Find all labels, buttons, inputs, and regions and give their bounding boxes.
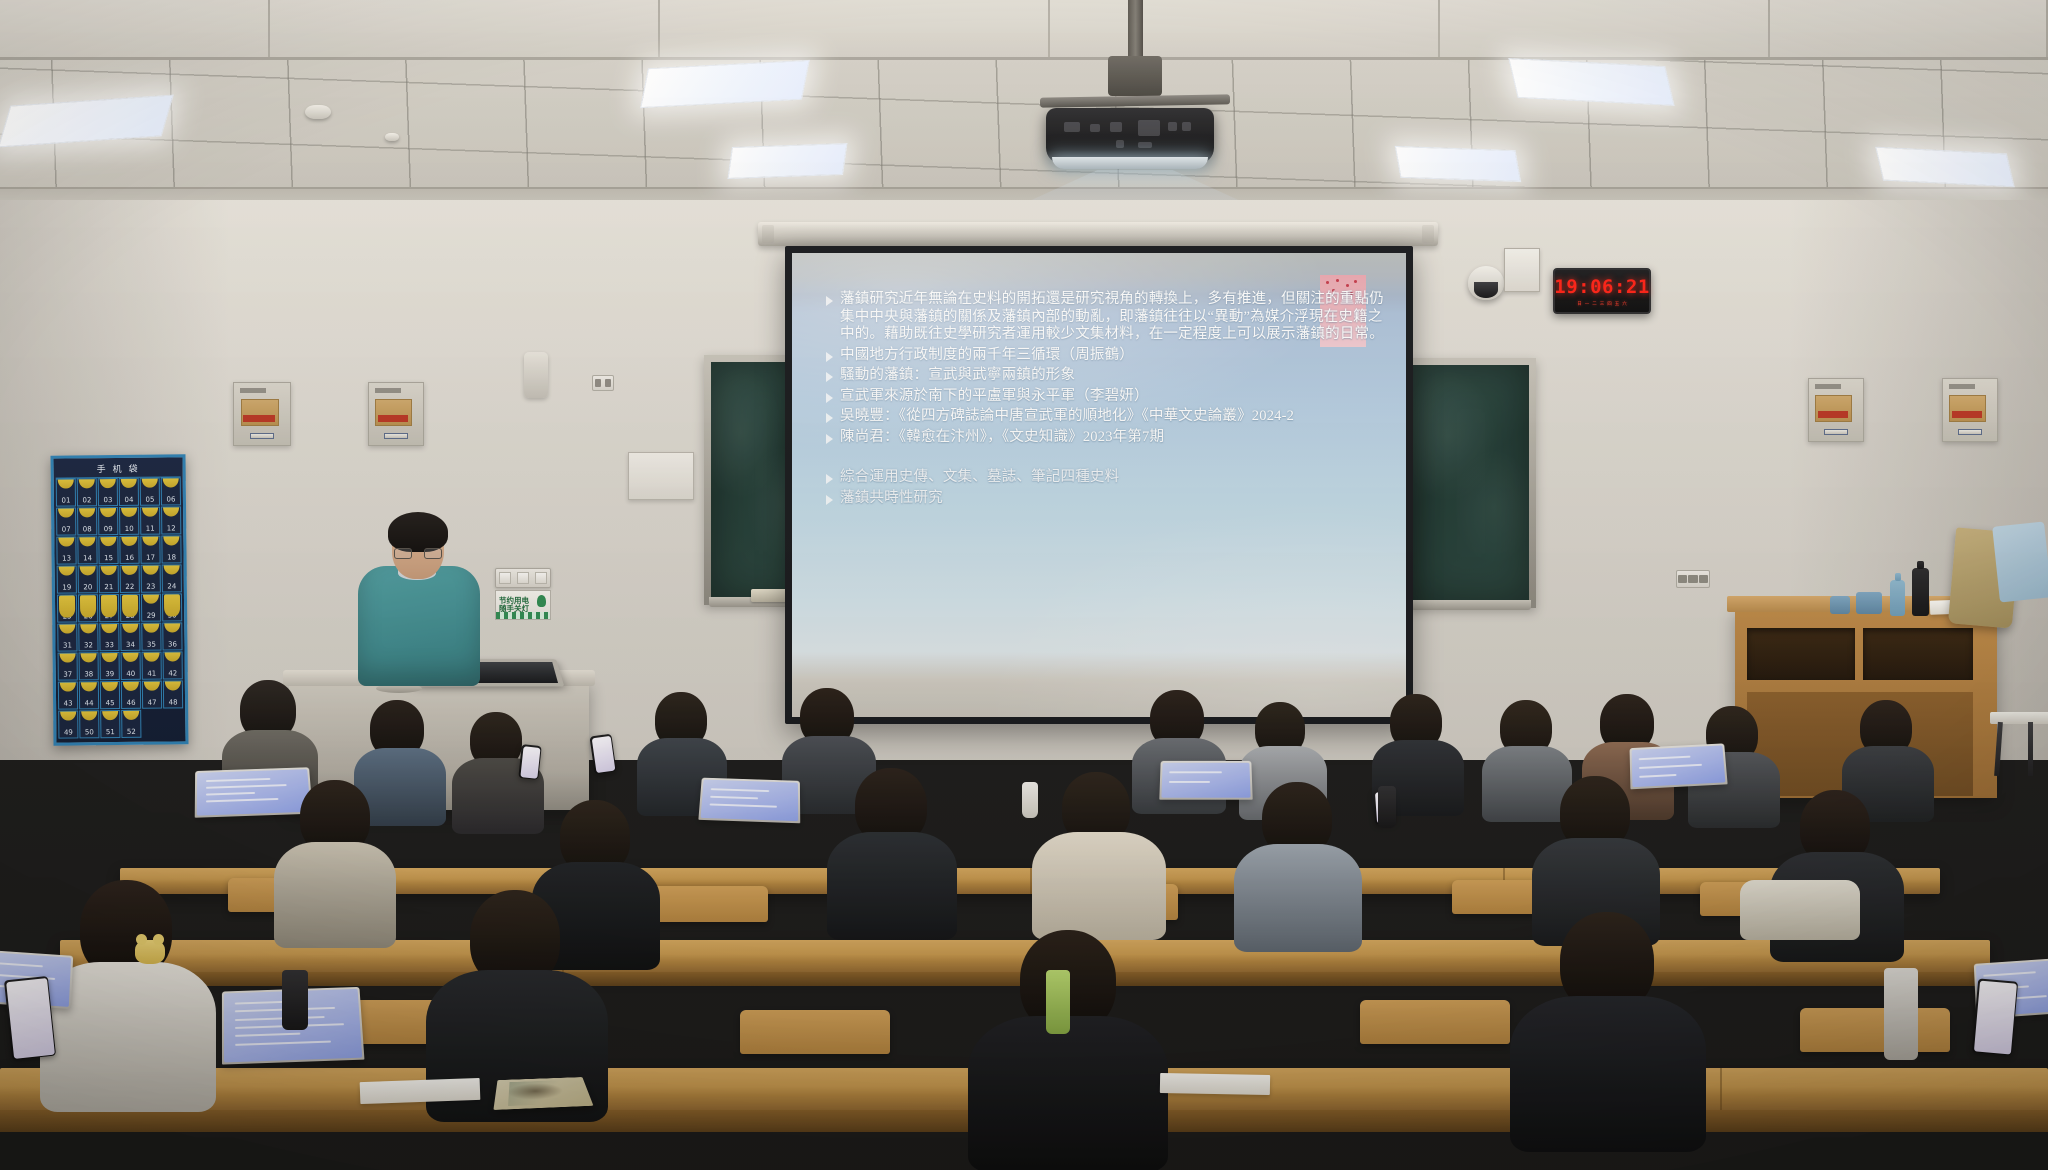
- phone-pocket-label: 17: [146, 554, 155, 562]
- phone-pocket-label: 21: [104, 583, 113, 591]
- bullet-triangle-icon: [826, 393, 833, 403]
- phone-pocket-label: 51: [106, 728, 115, 736]
- slide-bullet-text: 宣武軍來源於南下的平盧軍與永平軍（李碧妍）: [840, 388, 1149, 406]
- drink-bottle: [1046, 970, 1070, 1034]
- laptop: [195, 767, 313, 817]
- phone-pocket-label: 03: [103, 496, 112, 504]
- phone-pocket-28[interactable]: 28: [120, 594, 140, 622]
- clock-weekday: 六: [1622, 301, 1627, 307]
- ceiling-light-panel: [1875, 147, 2015, 188]
- wall-notice-sign: [628, 452, 694, 500]
- phone-pocket-36[interactable]: 36: [162, 622, 182, 650]
- clock-weekday-row: 日 一 二 三 四 五 六: [1577, 301, 1627, 307]
- phone-pocket-label: 46: [127, 699, 136, 707]
- phone-pocket-38[interactable]: 38: [79, 652, 99, 680]
- smoke-detector-icon: [385, 133, 399, 141]
- phone-pocket-label: 37: [63, 670, 72, 678]
- ceiling-upper-band: [0, 0, 2048, 60]
- drink-bottle: [282, 970, 308, 1030]
- phone-pocket-label: 44: [85, 699, 94, 707]
- phone-pocket-label: 12: [167, 524, 176, 532]
- ceiling-light-panel: [1395, 146, 1521, 182]
- phone-pocket-label: 49: [64, 728, 73, 736]
- phone-pocket-05[interactable]: 05: [140, 478, 160, 506]
- phone-pocket-label: 31: [63, 642, 72, 650]
- phone-pocket-label: 13: [62, 555, 71, 563]
- phone-pocket-50[interactable]: 50: [79, 710, 99, 738]
- projection-screen: 藩鎮研究近年無論在史料的開拓還是研究視角的轉換上，多有推進，但關注的重點仍集中中…: [785, 246, 1413, 724]
- slide-bullet: 藩鎮共時性研究: [826, 490, 1388, 508]
- slide-bullet: 陳尚君：《韓愈在汴州》，《文史知識》2023年第7期: [826, 429, 1388, 447]
- phone-pocket-label: 42: [168, 669, 177, 677]
- slide-bullet: 綜合運用史傳、文集、墓誌、筆記四種史料: [826, 469, 1388, 487]
- bullet-triangle-icon: [826, 352, 833, 362]
- teddy-bear-hairclip: [135, 940, 165, 964]
- projected-slide: 藩鎮研究近年無論在史料的開拓還是研究視角的轉換上，多有推進，但關注的重點仍集中中…: [792, 253, 1406, 717]
- water-bottle-blue: [1890, 580, 1905, 616]
- phone-pocket-03[interactable]: 03: [98, 478, 118, 506]
- phone-pocket-23[interactable]: 23: [141, 565, 161, 593]
- phone-pocket-21[interactable]: 21: [99, 565, 119, 593]
- phone-pocket-01[interactable]: 01: [56, 478, 76, 506]
- wall-control-panel-left-2: [368, 382, 424, 446]
- bullet-triangle-icon: [826, 434, 833, 444]
- smartphone: [4, 976, 56, 1060]
- phone-pocket-49[interactable]: 49: [58, 710, 78, 738]
- phone-pocket-31[interactable]: 31: [57, 623, 77, 651]
- phone-pocket-41[interactable]: 41: [142, 652, 162, 680]
- phone-pocket-label: 33: [105, 641, 114, 649]
- phone-pocket-label: 10: [125, 525, 134, 533]
- phone-pocket-label: 24: [167, 582, 176, 590]
- clock-weekday: 三: [1600, 301, 1605, 307]
- phone-pocket-label: 25: [63, 613, 72, 621]
- phone-pocket-07[interactable]: 07: [56, 507, 76, 535]
- laptop: [698, 778, 800, 824]
- phone-pocket-30[interactable]: 30: [162, 593, 182, 621]
- pencil-pouch: [1856, 592, 1882, 614]
- drink-bottle: [1378, 786, 1396, 828]
- phone-pocket-label: 07: [62, 526, 71, 534]
- slide-bullet: 中國地方行政制度的兩千年三循環（周振鶴）: [826, 347, 1388, 365]
- phone-pocket-25[interactable]: 25: [57, 594, 77, 622]
- phone-pocket-label: 29: [147, 612, 156, 620]
- digital-clock: 19:06:21 日 一 二 三 四 五 六: [1553, 268, 1651, 314]
- phone-bag-title-char: 手: [97, 462, 108, 475]
- projector-mount-pole: [1128, 0, 1143, 62]
- smartphone: [518, 744, 541, 780]
- drink-bottle: [1022, 782, 1038, 818]
- phone-pocket-17[interactable]: 17: [140, 536, 160, 564]
- pencil-pouch: [1830, 596, 1850, 614]
- phone-pocket-label: 18: [167, 553, 176, 561]
- laptop: [1630, 743, 1728, 789]
- phone-pocket-10[interactable]: 10: [119, 507, 139, 535]
- phone-pocket-label: 23: [146, 583, 155, 591]
- wall-control-panel-right: [1808, 378, 1864, 442]
- phone-pocket-label: 40: [126, 670, 135, 678]
- phone-bag-grid: 0102030405060708091011121314151617181920…: [56, 477, 184, 738]
- phone-pocket-label: 41: [147, 670, 156, 678]
- phone-pocket-18[interactable]: 18: [161, 535, 181, 563]
- phone-pocket-35[interactable]: 35: [141, 623, 161, 651]
- phone-pocket-label: 32: [84, 641, 93, 649]
- classroom-photo: 藩鎮研究近年無論在史料的開拓還是研究視角的轉換上，多有推進，但關注的重點仍集中中…: [0, 0, 2048, 1170]
- security-camera-icon: [1468, 266, 1504, 300]
- lecturer-body: [358, 566, 480, 686]
- phone-pocket-label: 11: [146, 525, 155, 533]
- bullet-triangle-icon: [826, 296, 833, 306]
- slide-bullet: 宣武軍來源於南下的平盧軍與永平軍（李碧妍）: [826, 388, 1388, 406]
- phone-pocket-27[interactable]: 27: [99, 594, 119, 622]
- phone-pocket-14[interactable]: 14: [77, 536, 97, 564]
- clock-weekday: 五: [1615, 301, 1620, 307]
- light-switch-plate: [495, 568, 551, 588]
- phone-pocket-label: 50: [85, 728, 94, 736]
- save-electricity-sign: 节约用电 随手关灯: [495, 590, 551, 620]
- bullet-triangle-icon: [826, 474, 833, 484]
- lightbulb-icon: [537, 595, 546, 607]
- chair-back: [740, 1010, 890, 1054]
- phone-pocket-34[interactable]: 34: [120, 623, 140, 651]
- phone-pocket-label: 43: [64, 699, 73, 707]
- phone-pocket-label: 45: [106, 699, 115, 707]
- phone-pocket-33[interactable]: 33: [99, 623, 119, 651]
- phone-pocket-20[interactable]: 20: [78, 565, 98, 593]
- phone-pocket-37[interactable]: 37: [58, 652, 78, 680]
- phone-bag-title-char: 袋: [129, 462, 140, 475]
- wall-control-panel-left: [233, 382, 291, 446]
- slide-bullet-text: 中國地方行政制度的兩千年三循環（周振鶴）: [840, 347, 1134, 365]
- slide-bullet-text: 藩鎮共時性研究: [840, 490, 943, 508]
- phone-pocket-label: 19: [62, 584, 71, 592]
- wall-outlet: [592, 375, 614, 391]
- phone-pocket-label: 20: [83, 583, 92, 591]
- phone-pocket-label: 47: [148, 699, 157, 707]
- phone-pocket-label: 04: [124, 496, 133, 504]
- phone-pocket-label: 15: [104, 554, 113, 562]
- phone-pocket-45[interactable]: 45: [100, 681, 120, 709]
- phone-pocket-08[interactable]: 08: [77, 507, 97, 535]
- papers-on-desk: [360, 1078, 481, 1104]
- phone-pocket-48[interactable]: 48: [163, 680, 183, 708]
- chalkboard-right: [1406, 358, 1536, 608]
- lecturer-hair: [388, 512, 448, 552]
- phone-pocket-organizer: 手 机 袋 0102030405060708091011121314151617…: [50, 454, 188, 745]
- slide-bullet-list: 藩鎮研究近年無論在史料的開拓還是研究視角的轉換上，多有推進，但關注的重點仍集中中…: [826, 291, 1388, 510]
- slide-spacer: [826, 449, 1388, 469]
- phone-pocket-label: 05: [145, 496, 154, 504]
- phone-pocket-label: 26: [84, 612, 93, 620]
- projector-mount-bracket: [1108, 56, 1162, 96]
- backpack: [1740, 880, 1860, 940]
- phone-pocket-44[interactable]: 44: [79, 681, 99, 709]
- phone-pocket-label: 48: [169, 698, 178, 706]
- wall-outlet: [1676, 570, 1710, 588]
- papers-on-desk: [1160, 1073, 1270, 1095]
- phone-pocket-label: 34: [126, 641, 135, 649]
- ceiling-light-panel: [727, 143, 847, 179]
- phone-pocket-label: 35: [147, 641, 156, 649]
- clock-time: 19:06:21: [1554, 276, 1650, 298]
- phone-pocket-51[interactable]: 51: [100, 710, 120, 738]
- phone-pocket-label: 38: [84, 670, 93, 678]
- cloth-hanging: [1992, 521, 2048, 602]
- slide-bullet-text: 藩鎮研究近年無論在史料的開拓還是研究視角的轉換上，多有推進，但關注的重點仍集中中…: [840, 291, 1388, 344]
- phone-pocket-11[interactable]: 11: [140, 507, 160, 535]
- phone-pocket-06[interactable]: 06: [161, 477, 181, 505]
- smartphone: [1972, 978, 2018, 1055]
- phone-pocket-32[interactable]: 32: [78, 623, 98, 651]
- phone-pocket-label: 09: [104, 525, 113, 533]
- drink-bottle: [1884, 968, 1918, 1060]
- phone-pocket-label: 16: [125, 554, 134, 562]
- phone-pocket-label: 02: [82, 496, 91, 504]
- phone-pocket-label: 06: [166, 495, 175, 503]
- phone-pocket-42[interactable]: 42: [163, 651, 183, 679]
- clock-weekday: 二: [1592, 301, 1597, 307]
- book-on-desk: [493, 1077, 593, 1110]
- phone-pocket-label: 52: [127, 728, 136, 736]
- slide-bullet: 騷動的藩鎮：宣武與武寧兩鎮的形象: [826, 367, 1388, 385]
- phone-pocket-47[interactable]: 47: [142, 681, 162, 709]
- phone-pocket-02[interactable]: 02: [77, 478, 97, 506]
- clock-weekday: 一: [1585, 301, 1590, 307]
- phone-pocket-52[interactable]: 52: [121, 710, 141, 738]
- ceiling-projector: [1046, 108, 1214, 164]
- phone-pocket-40[interactable]: 40: [121, 652, 141, 680]
- bullet-triangle-icon: [826, 413, 833, 423]
- phone-bag-title: 手 机 袋: [56, 459, 181, 478]
- phone-pocket-29[interactable]: 29: [141, 594, 161, 622]
- lecturer-glasses: [394, 548, 442, 559]
- phone-pocket-label: 14: [83, 554, 92, 562]
- phone-pocket-46[interactable]: 46: [121, 681, 141, 709]
- chair-back: [1800, 1008, 1950, 1052]
- clock-weekday: 四: [1607, 301, 1612, 307]
- water-bottle-black: [1912, 568, 1929, 616]
- phone-pocket-19[interactable]: 19: [57, 565, 77, 593]
- phone-pocket-12[interactable]: 12: [161, 506, 181, 534]
- folding-stool: [1990, 712, 2048, 776]
- phone-pocket-16[interactable]: 16: [119, 536, 139, 564]
- phone-pocket-label: 28: [126, 612, 135, 620]
- slide-bullet: 藩鎮研究近年無論在史料的開拓還是研究視角的轉換上，多有推進，但關注的重點仍集中中…: [826, 291, 1388, 344]
- slide-bullet-text: 騷動的藩鎮：宣武與武寧兩鎮的形象: [840, 367, 1075, 385]
- phone-pocket-13[interactable]: 13: [56, 536, 76, 564]
- phone-pocket-label: 08: [83, 525, 92, 533]
- slide-bullet: 吳曉豐：《從四方碑誌論中唐宣武軍的順地化》《中華文史論叢》2024-2: [826, 408, 1388, 426]
- smoke-detector-icon: [305, 105, 331, 119]
- bullet-triangle-icon: [826, 495, 833, 505]
- wall-speaker: [524, 352, 548, 398]
- slide-bullet-text: 吳曉豐：《從四方碑誌論中唐宣武軍的順地化》《中華文史論叢》2024-2: [840, 408, 1294, 426]
- wall-junction-box: [1504, 248, 1540, 292]
- slide-bullet-text: 綜合運用史傳、文集、墓誌、筆記四種史料: [840, 469, 1119, 487]
- clock-weekday: 日: [1577, 301, 1582, 307]
- phone-pocket-label: 30: [168, 611, 177, 619]
- laptop: [1159, 761, 1252, 800]
- phone-pocket-label: 01: [61, 497, 70, 505]
- phone-pocket-24[interactable]: 24: [162, 564, 182, 592]
- phone-pocket-label: 36: [168, 640, 177, 648]
- phone-bag-title-char: 机: [113, 462, 124, 475]
- phone-pocket-label: 39: [105, 670, 114, 678]
- bullet-triangle-icon: [826, 372, 833, 382]
- phone-pocket-26[interactable]: 26: [78, 594, 98, 622]
- phone-pocket-15[interactable]: 15: [98, 536, 118, 564]
- phone-pocket-39[interactable]: 39: [100, 652, 120, 680]
- projection-screen-housing: [758, 222, 1438, 246]
- phone-pocket-label: 27: [105, 612, 114, 620]
- wall-control-panel-right-2: [1942, 378, 1998, 442]
- chair-back: [1360, 1000, 1510, 1044]
- phone-pocket-43[interactable]: 43: [58, 681, 78, 709]
- phone-pocket-label: 22: [125, 583, 134, 591]
- phone-pocket-22[interactable]: 22: [120, 565, 140, 593]
- phone-pocket-09[interactable]: 09: [98, 507, 118, 535]
- slide-bullet-text: 陳尚君：《韓愈在汴州》，《文史知識》2023年第7期: [840, 429, 1164, 447]
- phone-pocket-04[interactable]: 04: [119, 478, 139, 506]
